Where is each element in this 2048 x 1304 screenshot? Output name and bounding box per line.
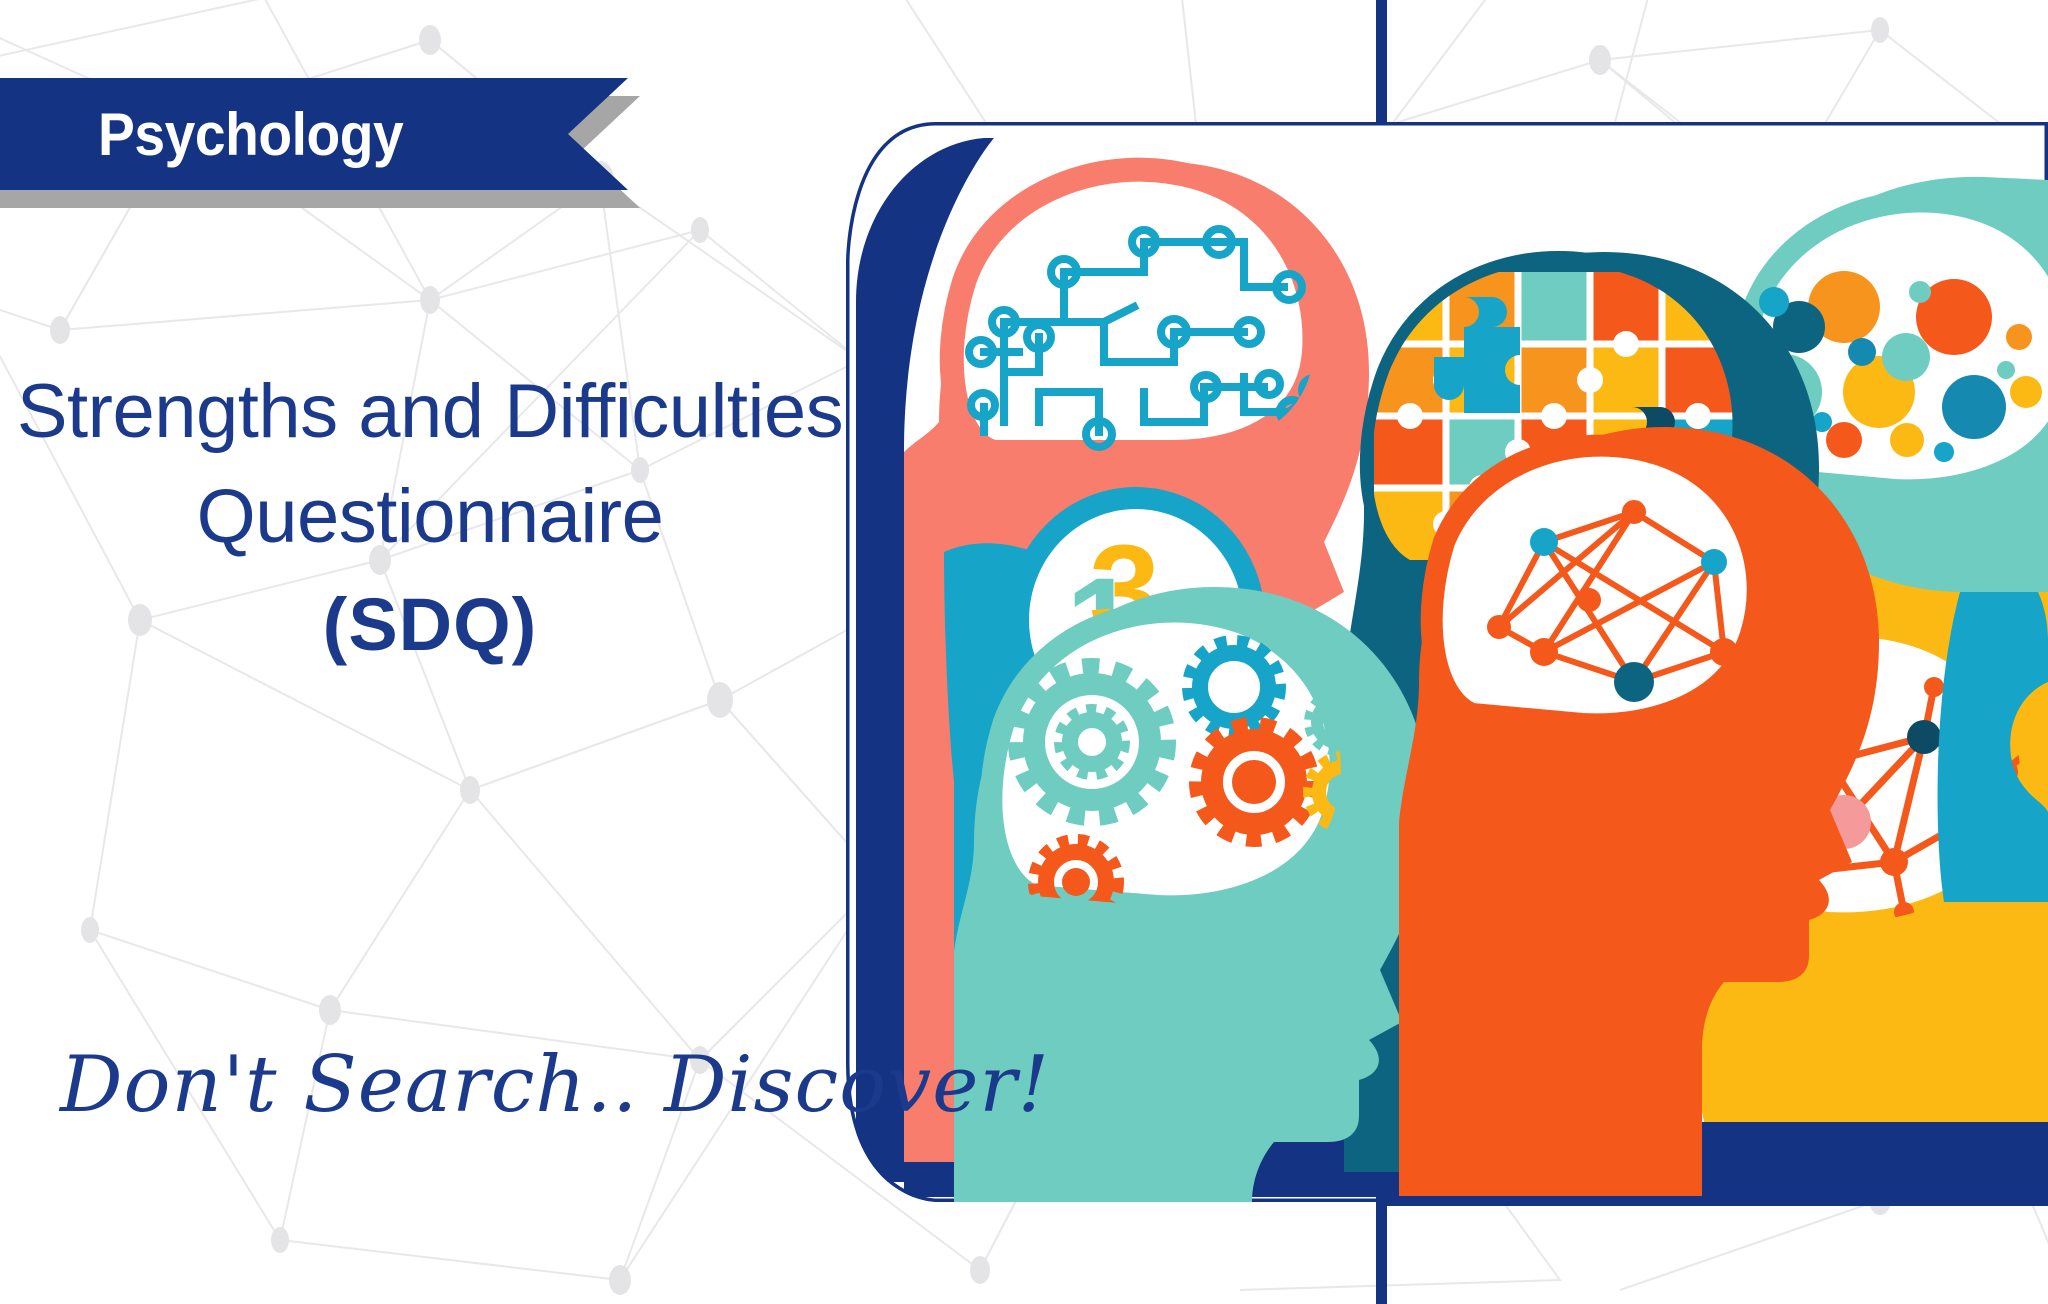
ribbon-label: Psychology — [98, 100, 403, 169]
title-abbreviation: (SDQ) — [0, 574, 860, 676]
ribbon-banner: Psychology — [0, 78, 628, 190]
category-ribbon: Psychology — [0, 78, 660, 208]
title-line-2: Questionnaire — [0, 465, 860, 570]
title-line-1: Strengths and Difficulties — [0, 360, 860, 465]
slide-canvas: Psychology Strengths and Difficulties Qu… — [0, 0, 2048, 1304]
page-title: Strengths and Difficulties Questionnaire… — [0, 360, 860, 676]
tagline-text: Don't Search.. Discover! — [60, 1040, 860, 1130]
frame-bottom-rule — [1376, 1196, 2048, 1206]
